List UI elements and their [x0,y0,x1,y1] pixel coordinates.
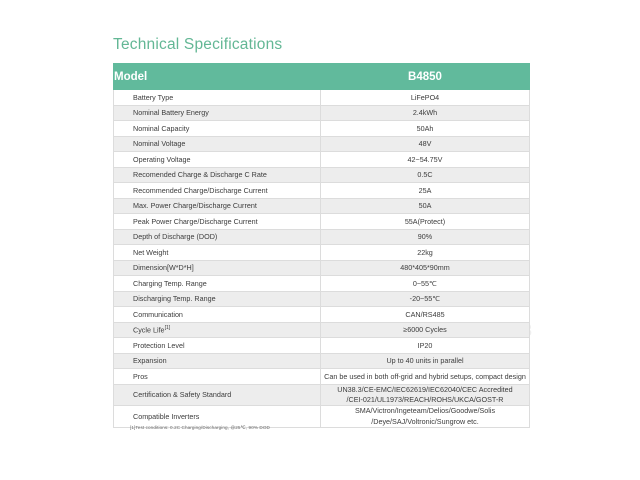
row-value: 90% [321,229,530,245]
row-value: Up to 40 units in parallel [321,353,530,369]
row-value: 22kg [321,245,530,261]
table-row: Depth of Discharge (DOD)90% [114,229,530,245]
header-model-label: Model [114,64,321,90]
row-label: Dimension[W*D*H] [114,260,321,276]
footnote-marker: [1] [165,325,171,331]
table-row: Recommended Charge/Discharge Current25A [114,183,530,199]
table-row: Protection LevelIP20 [114,338,530,354]
page-title: Technical Specifications [113,36,282,54]
table-row: Net Weight22kg [114,245,530,261]
table-row: Max. Power Charge/Discharge Current50A [114,198,530,214]
table-row: Operating Voltage42~54.75V [114,152,530,168]
table-row: ProsCan be used in both off-grid and hyb… [114,369,530,385]
row-value: IP20 [321,338,530,354]
row-value: LiFePO4 [321,90,530,106]
row-label: Recommended Charge/Discharge Current [114,183,321,199]
slide-canvas: Rachael Rachael Rachael B48 Technical Sp… [0,0,640,480]
row-value: 2.4kWh [321,105,530,121]
table-row: CommunicationCAN/RS485 [114,307,530,323]
row-value: 25A [321,183,530,199]
table-row: Dimension[W*D*H]480*405*90mm [114,260,530,276]
table-row: Charging Temp. Range0~55℃ [114,276,530,292]
specifications-table: Model B4850 Battery TypeLiFePO4Nominal B… [113,63,530,428]
row-label: Communication [114,307,321,323]
row-label: Cycle Life[1] [114,322,321,338]
row-label: Certification & Safety Standard [114,384,321,406]
row-label: Operating Voltage [114,152,321,168]
table-body: Battery TypeLiFePO4Nominal Battery Energ… [114,90,530,428]
row-value: UN38.3/CE-EMC/IEC62619/IEC62040/CEC Accr… [321,384,530,406]
table-row: Nominal Battery Energy2.4kWh [114,105,530,121]
table-row: Peak Power Charge/Discharge Current55A(P… [114,214,530,230]
table-header-row: Model B4850 [114,64,530,90]
row-value: 0.5C [321,167,530,183]
row-label: Net Weight [114,245,321,261]
row-value-line: UN38.3/CE-EMC/IEC62619/IEC62040/CEC Accr… [321,385,529,395]
row-label: Charging Temp. Range [114,276,321,292]
row-value: 55A(Protect) [321,214,530,230]
table-row: Nominal Voltage48V [114,136,530,152]
row-label: Peak Power Charge/Discharge Current [114,214,321,230]
row-value: 48V [321,136,530,152]
row-value: -20~55℃ [321,291,530,307]
row-value: 42~54.75V [321,152,530,168]
table-row: Cycle Life[1]≥6000 Cycles [114,322,530,338]
row-value: 480*405*90mm [321,260,530,276]
table-row: Recomended Charge & Discharge C Rate0.5C [114,167,530,183]
row-value: CAN/RS485 [321,307,530,323]
row-value: 0~55℃ [321,276,530,292]
row-value: ≥6000 Cycles [321,322,530,338]
row-value-line: /CEI-021/UL1973/REACH/ROHS/UKCA/GOST-R [321,395,529,405]
row-label: Nominal Capacity [114,121,321,137]
row-value: SMA/Victron/Ingeteam/Delios/Goodwe/Solis… [321,406,530,428]
row-value: Can be used in both off-grid and hybrid … [321,369,530,385]
row-label: Discharging Temp. Range [114,291,321,307]
table-row: Certification & Safety StandardUN38.3/CE… [114,384,530,406]
row-label: Protection Level [114,338,321,354]
row-value: 50Ah [321,121,530,137]
row-value: 50A [321,198,530,214]
row-label: Max. Power Charge/Discharge Current [114,198,321,214]
row-value-line: /Deye/SAJ/Voltronic/Sungrow etc. [321,417,529,427]
row-label: Recomended Charge & Discharge C Rate [114,167,321,183]
table-footnote: [1]Test conditions: 0.2C Charging/Discha… [130,425,270,431]
row-label: Nominal Battery Energy [114,105,321,121]
header-model-value: B4850 [321,64,530,90]
table-header: Model B4850 [114,64,530,90]
row-label: Depth of Discharge (DOD) [114,229,321,245]
row-label: Pros [114,369,321,385]
row-label: Nominal Voltage [114,136,321,152]
row-label: Battery Type [114,90,321,106]
table-row: Discharging Temp. Range-20~55℃ [114,291,530,307]
table-row: Battery TypeLiFePO4 [114,90,530,106]
table-row: Nominal Capacity50Ah [114,121,530,137]
table-row: ExpansionUp to 40 units in parallel [114,353,530,369]
row-label: Expansion [114,353,321,369]
row-value-line: SMA/Victron/Ingeteam/Delios/Goodwe/Solis [321,406,529,416]
